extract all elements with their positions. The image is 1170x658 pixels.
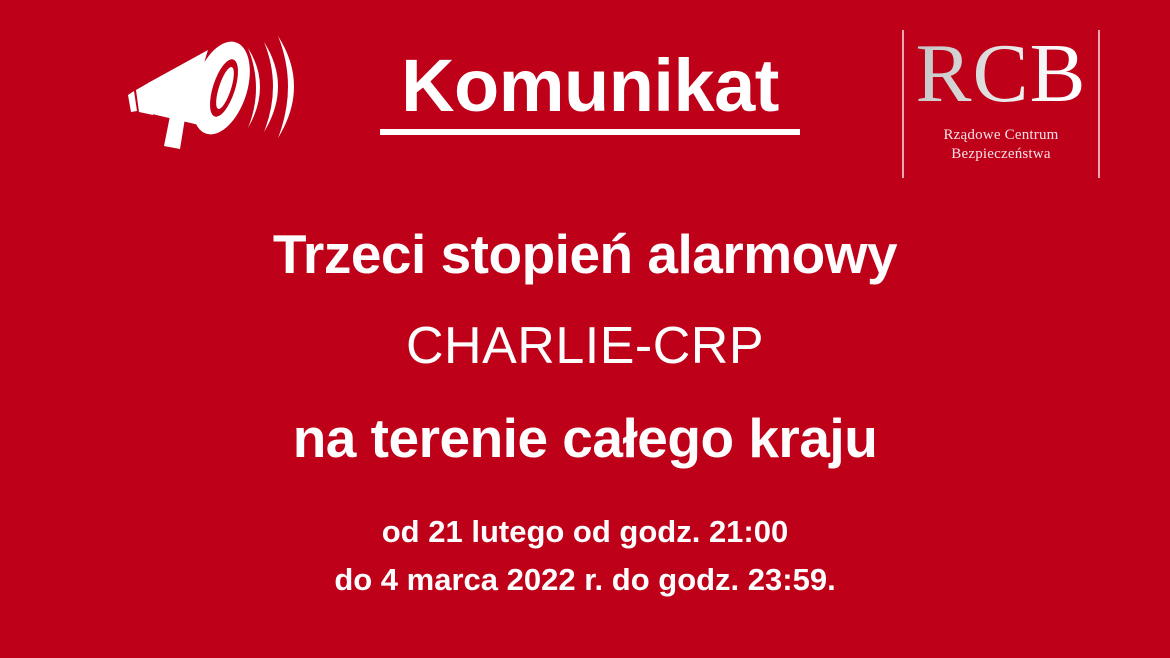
headline-underline [380, 129, 800, 135]
megaphone-icon [112, 28, 297, 153]
headline-block: Komunikat [320, 44, 860, 135]
rcb-wordmark: RCB [896, 28, 1106, 120]
page-title: Komunikat [401, 44, 779, 128]
rcb-subtitle: Rządowe Centrum Bezpieczeństwa [896, 126, 1106, 164]
alert-message: Trzeci stopień alarmowy CHARLIE-CRP na t… [0, 208, 1170, 484]
validity-period: od 21 lutego od godz. 21:00 do 4 marca 2… [0, 508, 1170, 604]
validity-start: od 21 lutego od godz. 21:00 [0, 508, 1170, 556]
alert-code-text: CHARLIE-CRP [0, 300, 1170, 392]
rcb-subtitle-line-1: Rządowe Centrum [943, 127, 1058, 143]
validity-end: do 4 marca 2022 r. do godz. 23:59. [0, 556, 1170, 604]
alert-poster: Komunikat RCB Rządowe Centrum Bezpieczeń… [0, 0, 1170, 658]
alert-level-text: Trzeci stopień alarmowy [0, 208, 1170, 300]
rcb-subtitle-line-2: Bezpieczeństwa [951, 146, 1050, 162]
rcb-logo: RCB Rządowe Centrum Bezpieczeństwa [896, 28, 1106, 180]
alert-area-text: na terenie całego kraju [0, 392, 1170, 484]
